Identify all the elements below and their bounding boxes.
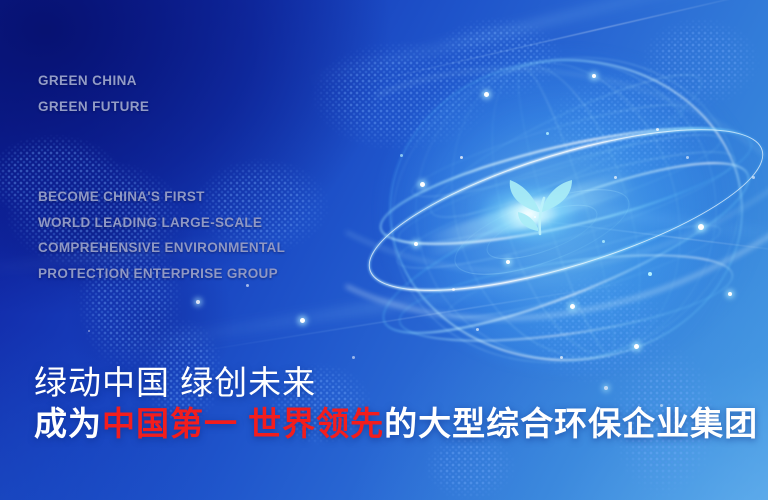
- vignette-overlay: [0, 0, 768, 500]
- environmental-banner: GREEN CHINA GREEN FUTURE BECOME CHINA'S …: [0, 0, 768, 500]
